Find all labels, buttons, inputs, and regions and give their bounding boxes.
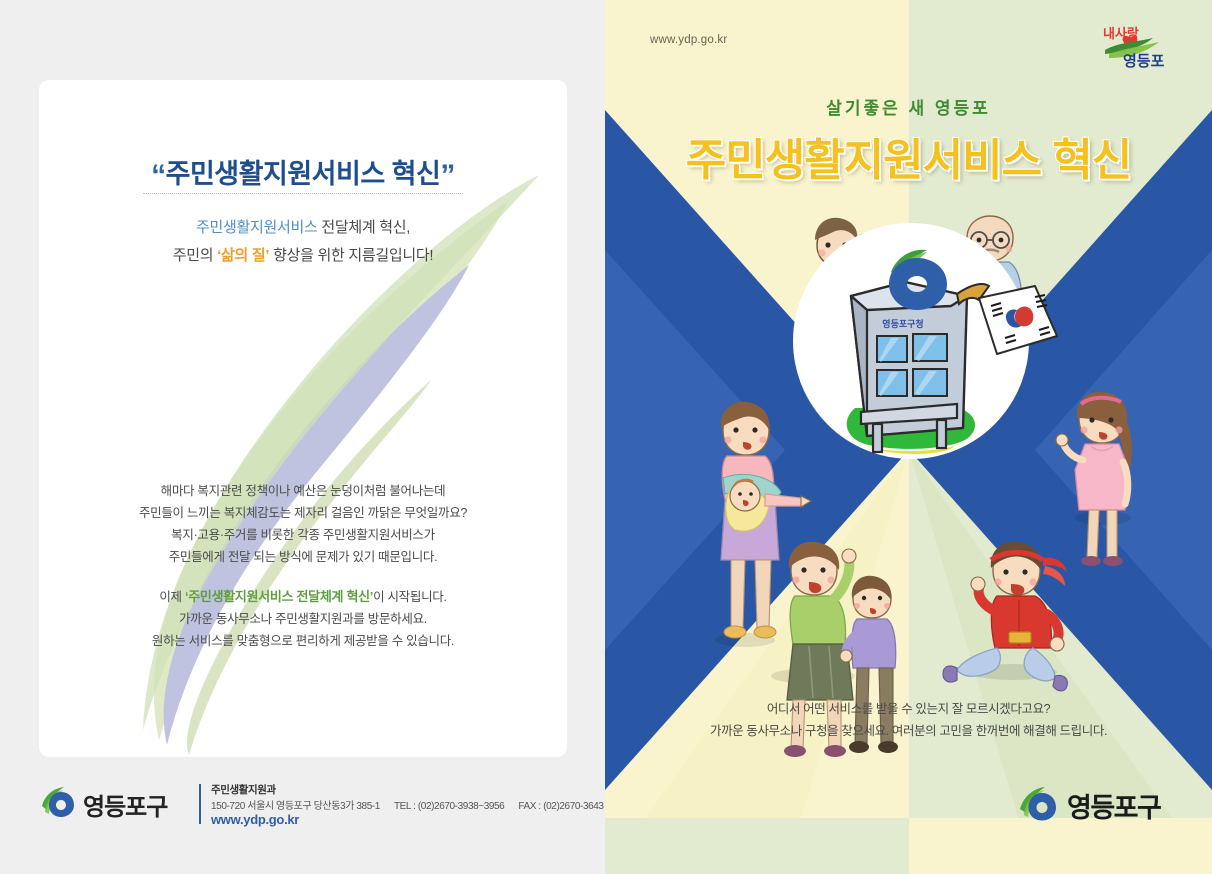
yeongdeungpo-logo-icon bbox=[1017, 786, 1057, 822]
footer-logo-wordmark: 영등포구 bbox=[83, 787, 167, 822]
cover-note: 어디서 어떤 서비스를 받을 수 있는지 잘 모르시겠다고요? 가까운 동사무소… bbox=[605, 698, 1212, 742]
page-title-text: 주민생활지원서비스 혁신 bbox=[166, 159, 441, 189]
back-cover-footer: 영등포구 주민생활지원과 150-720 서울시 영등포구 당산동3가 385-… bbox=[39, 782, 567, 832]
open-quote: “ bbox=[151, 159, 166, 192]
subtitle-line-2-pre: 주민의 bbox=[173, 247, 217, 264]
title-divider bbox=[143, 193, 463, 195]
cover-note-line: 어디서 어떤 서비스를 받을 수 있는지 잘 모르시겠다고요? bbox=[605, 698, 1212, 720]
footer-vertical-rule bbox=[199, 784, 201, 824]
subtitle-highlight-service: 주민생활지원서비스 bbox=[196, 219, 318, 236]
body-line: 가까운 동사무소나 주민생활지원과를 방문하세요. bbox=[39, 608, 567, 630]
subtitle-line-2: 주민의 ‘삶의 질’ 향상을 위한 지름길입니다! bbox=[39, 242, 567, 270]
body-callout-highlight: ‘주민생활지원서비스 전달체계 혁신’ bbox=[185, 589, 373, 604]
body-paragraph-gap bbox=[39, 568, 567, 586]
subtitle-line-1-rest: 전달체계 혁신, bbox=[317, 219, 410, 236]
cover-footer-logo: 영등포구 bbox=[1017, 782, 1177, 826]
body-line: 복지·고용·주거를 비롯한 각종 주민생활지원서비스가 bbox=[39, 524, 567, 546]
footer-tel: TEL : (02)2670-3938~3956 bbox=[394, 801, 504, 812]
character-running-girl bbox=[943, 542, 1067, 691]
yeongdeungpo-logo-icon bbox=[39, 786, 75, 818]
footer-fax: FAX : (02)2670-3643 bbox=[518, 801, 603, 812]
body-line: 해마다 복지관련 정책이나 예산은 눈덩이처럼 불어나는데 bbox=[39, 480, 567, 502]
subtitle-line-1: 주민생활지원서비스 전달체계 혁신, bbox=[39, 214, 567, 242]
brochure-page: “주민생활지원서비스 혁신” 주민생활지원서비스 전달체계 혁신, 주민의 ‘삶… bbox=[0, 0, 1212, 874]
footer-address: 150-720 서울시 영등포구 당산동3가 385-1 bbox=[211, 801, 380, 812]
footer-department: 주민생활지원과 bbox=[211, 782, 276, 797]
subtitle-block: 주민생활지원서비스 전달체계 혁신, 주민의 ‘삶의 질’ 향상을 위한 지름길… bbox=[39, 214, 567, 270]
content-card: “주민생활지원서비스 혁신” 주민생활지원서비스 전달체계 혁신, 주민의 ‘삶… bbox=[39, 80, 567, 757]
subtitle-highlight-quality-of-life: ‘삶의 질’ bbox=[217, 247, 269, 264]
character-girl-pink-dress bbox=[1056, 392, 1132, 566]
body-copy: 해마다 복지관련 정책이나 예산은 눈덩이처럼 불어나는데 주민들이 느끼는 복… bbox=[39, 480, 567, 652]
footer-website-url[interactable]: www.ydp.go.kr bbox=[211, 812, 299, 827]
cover-illustration: 영등포구청 bbox=[605, 0, 1212, 874]
cover-note-line: 가까운 동사무소나 구청을 찾으세요. 여러분의 고민을 한꺼번에 해결해 드립… bbox=[605, 720, 1212, 742]
building-sign-label: 영등포구청 bbox=[882, 318, 923, 329]
subtitle-line-2-rest: 향상을 위한 지름길입니다! bbox=[269, 247, 433, 264]
left-panel-back-cover: “주민생활지원서비스 혁신” 주민생활지원서비스 전달체계 혁신, 주민의 ‘삶… bbox=[0, 0, 605, 874]
body-callout-rest: 이 시작됩니다. bbox=[373, 590, 447, 604]
body-line: 주민들이 느끼는 복지체감도는 제자리 걸음인 까닭은 무엇일까요? bbox=[39, 502, 567, 524]
body-line: 주민들에게 전달 되는 방식에 문제가 있기 때문입니다. bbox=[39, 546, 567, 568]
body-line: 원하는 서비스를 맞춤형으로 편리하게 제공받을 수 있습니다. bbox=[39, 630, 567, 652]
body-callout-pre: 이제 bbox=[159, 590, 185, 604]
cover-footer-wordmark: 영등포구 bbox=[1067, 786, 1160, 825]
close-quote: ” bbox=[440, 159, 455, 192]
right-panel-front-cover: www.ydp.go.kr 내사랑 영등포 살기좋은 새 영등포 주민생활지원서… bbox=[605, 0, 1212, 874]
page-title: “주민생활지원서비스 혁신” bbox=[39, 152, 567, 193]
footer-contact-line: 150-720 서울시 영등포구 당산동3가 385-1TEL : (02)26… bbox=[211, 797, 604, 812]
body-callout-line: 이제 ‘주민생활지원서비스 전달체계 혁신’이 시작됩니다. bbox=[39, 586, 567, 608]
